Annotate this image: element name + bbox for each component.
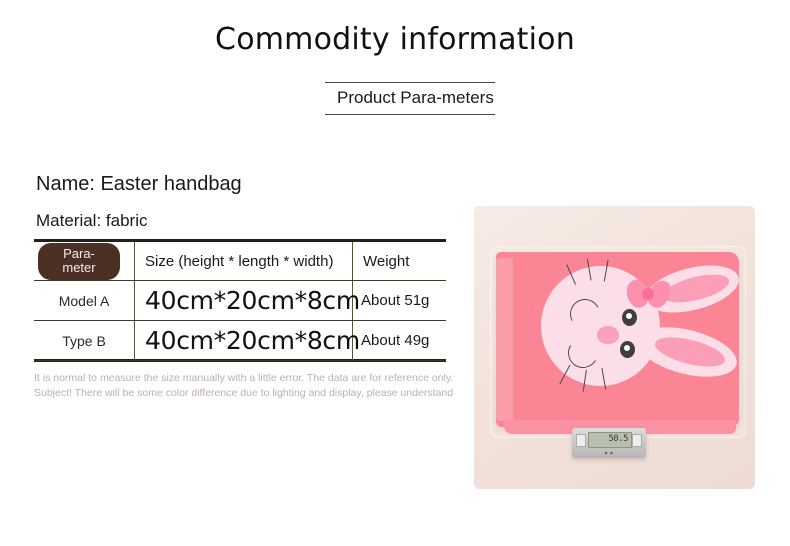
row-cell-weight: About 49g — [352, 321, 446, 361]
weight-column-label: Weight — [353, 253, 409, 270]
scale-reading-value: 50.5 — [608, 434, 628, 444]
row-cell-model: Model A — [34, 281, 134, 321]
header-cell-weight: Weight — [352, 241, 446, 281]
row-cell-size: 40cm*20cm*8cm — [134, 321, 352, 361]
weight-value-1: About 49g — [353, 332, 429, 349]
product-material-text: Material: fabric — [36, 211, 147, 231]
size-column-label: Size (height * length * width) — [135, 253, 333, 270]
section-badge-label: Product Para-meters — [325, 87, 495, 109]
scale-button-left[interactable] — [576, 434, 586, 447]
scale-brand-mark: ▲▲ — [572, 450, 646, 456]
table-row: Type B 40cm*20cm*8cm About 49g — [34, 321, 446, 361]
measurement-disclaimer-text: It is normal to measure the size manuall… — [34, 371, 476, 400]
digital-scale: 50.5 ▲▲ — [572, 428, 646, 458]
page-title: Commodity information — [0, 22, 790, 57]
row-cell-model: Type B — [34, 321, 134, 361]
model-name-0: Model A — [34, 293, 134, 309]
row-cell-size: 40cm*20cm*8cm — [134, 281, 352, 321]
plastic-wrap-overlay — [490, 246, 746, 438]
header-cell-size: Size (height * length * width) — [134, 241, 352, 281]
product-info-page: Commodity information Product Para-meter… — [0, 0, 790, 546]
parameter-pill-label: Para-meter — [38, 243, 120, 280]
bunny-bow-knot — [642, 288, 654, 300]
weight-value-0: About 51g — [353, 292, 429, 309]
table-header-row: Para-meter Size (height * length * width… — [34, 241, 446, 281]
product-name-text: Name: Easter handbag — [36, 173, 242, 196]
scale-display: 50.5 — [588, 432, 632, 448]
model-name-1: Type B — [34, 333, 134, 349]
parameter-table: Para-meter Size (height * length * width… — [34, 239, 446, 361]
table-row: Model A 40cm*20cm*8cm About 51g — [34, 281, 446, 321]
size-value-0: 40cm*20cm*8cm — [135, 286, 360, 315]
section-badge: Product Para-meters — [325, 82, 495, 115]
product-photo: 50.5 ▲▲ — [474, 206, 755, 489]
size-value-1: 40cm*20cm*8cm — [135, 326, 360, 355]
header-cell-parameter: Para-meter — [34, 241, 134, 281]
row-cell-weight: About 51g — [352, 281, 446, 321]
scale-button-right[interactable] — [632, 434, 642, 447]
